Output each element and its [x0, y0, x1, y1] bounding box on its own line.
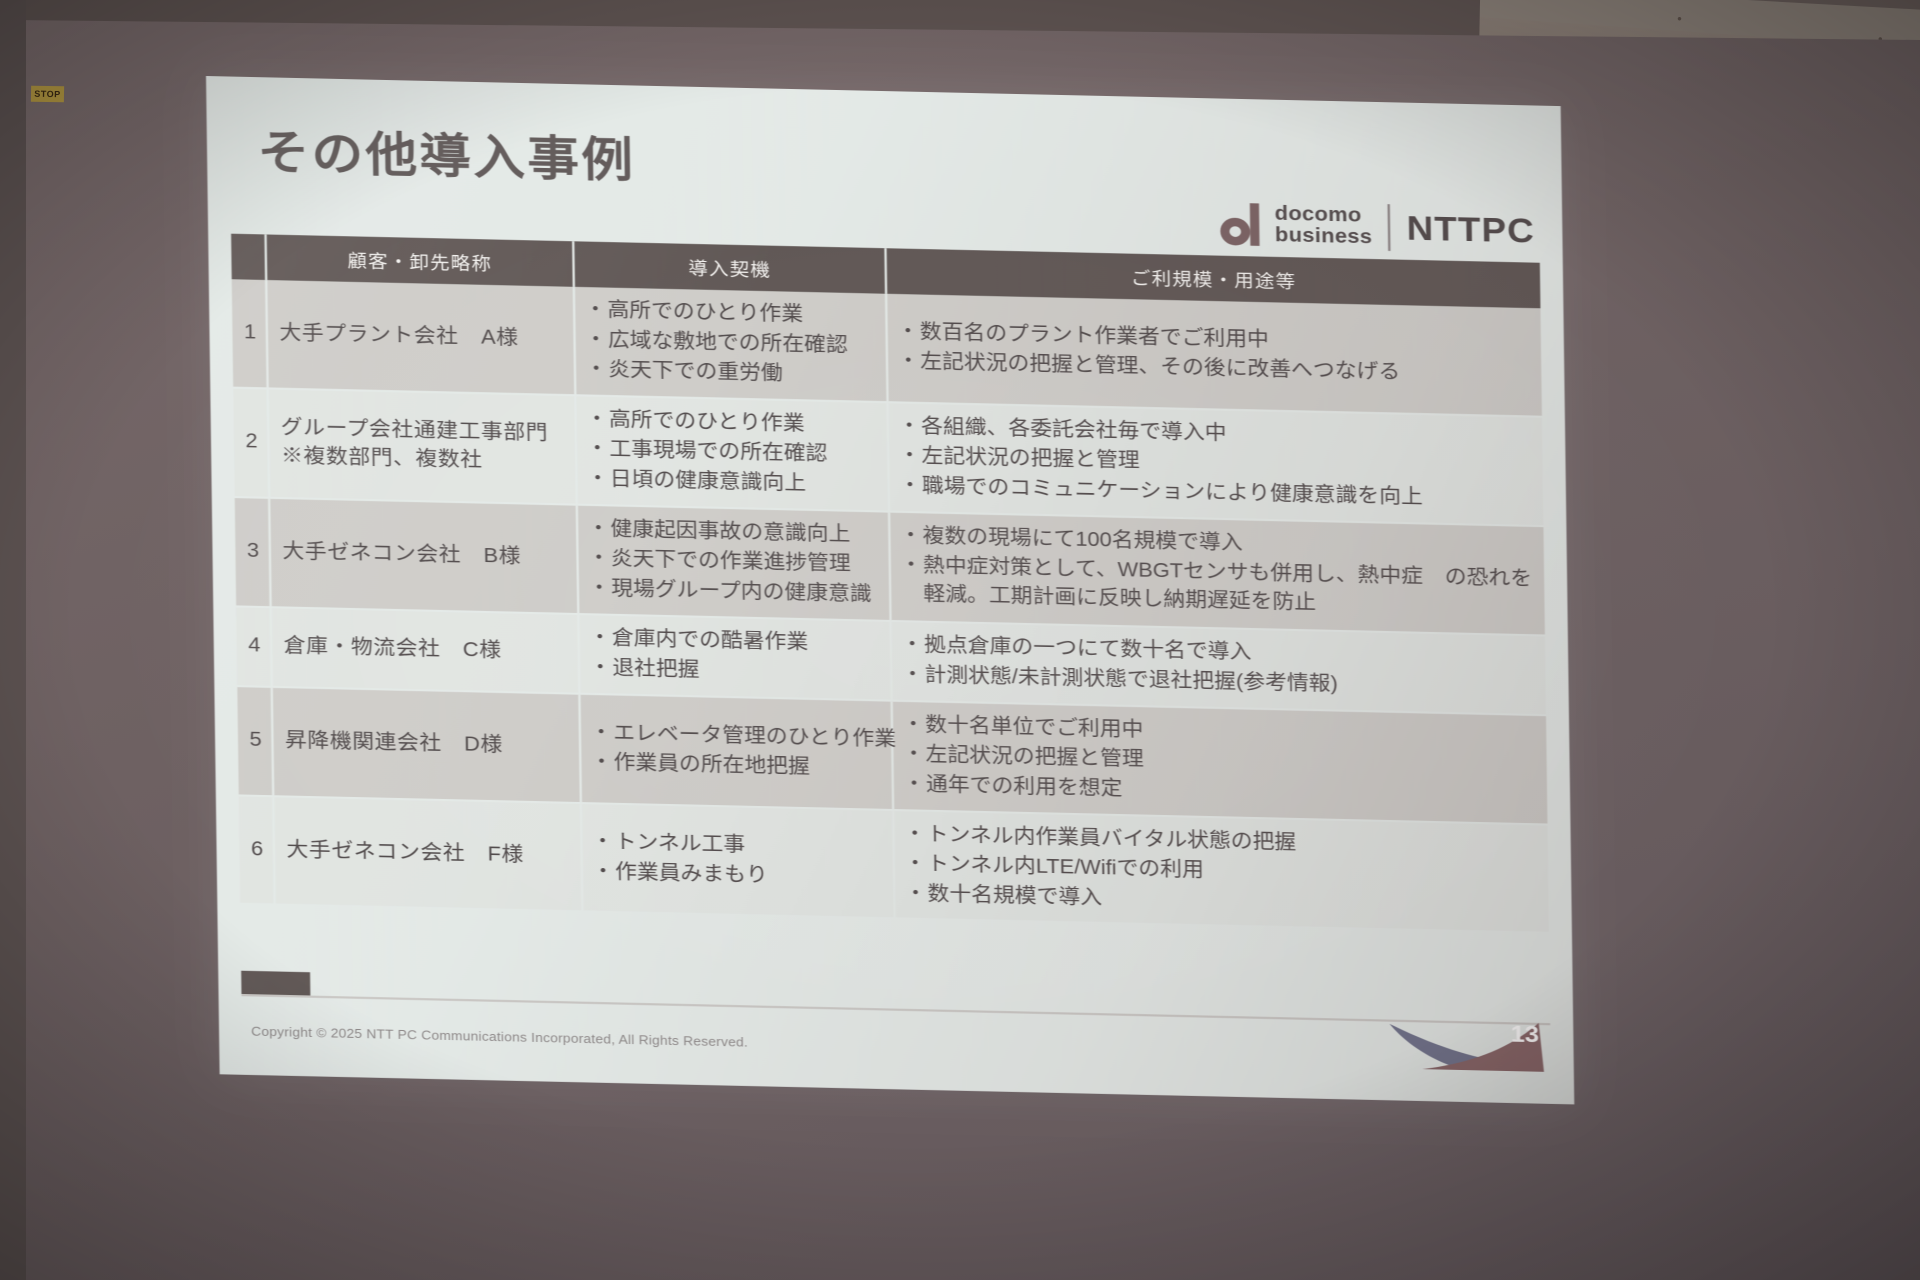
wall-left-post — [0, 0, 26, 1280]
bullet-list: 高所でのひとり作業広域な敷地での所在確認炎天下での重労働 — [587, 297, 875, 391]
cell-customer: 大手ゼネコン会社 B様 — [269, 498, 578, 614]
cell-trigger: エレベータ管理のひとり作業作業員の所在地把握 — [579, 693, 893, 809]
row-number: 1 — [232, 279, 268, 388]
footer-divider — [241, 994, 1550, 1025]
row-number: 5 — [237, 686, 273, 796]
table-body: 1大手プラント会社 A様高所でのひとり作業広域な敷地での所在確認炎天下での重労働… — [232, 279, 1549, 933]
page-number: 13 — [1511, 1020, 1539, 1048]
bullet-list: 拠点倉庫の一つにて数十名で導入計測状態/未計測状態で退社把握(参考情報) — [903, 632, 1534, 704]
cell-scale: トンネル内作業員バイタル状態の把握トンネル内LTE/Wifiでの利用数十名規模で… — [893, 810, 1549, 934]
cell-trigger: 高所でのひとり作業工事現場での所在確認日頃の健康意識向上 — [575, 395, 889, 511]
cell-trigger: トンネル工事作業員みまもり — [581, 803, 895, 919]
cell-customer: 昇降機関連会社 D様 — [272, 686, 581, 802]
projected-slide-wrapper: その他導入事例 docomo business NTTPC — [206, 76, 1574, 1104]
bullet-list: 高所でのひとり作業工事現場での所在確認日頃の健康意識向上 — [588, 406, 876, 500]
cell-scale: 数百名のプラント作業者でご利用中左記状況の把握と管理、その後に改善へつなげる — [886, 294, 1542, 417]
cell-scale: 複数の現場にて100名規模で導入熱中症対策として、WBGTセンサも併用し、熱中症… — [889, 511, 1545, 635]
docomo-d-mark-icon — [1219, 203, 1259, 246]
cell-scale: 数十名単位でご利用中左記状況の把握と管理通年での利用を想定 — [892, 700, 1548, 824]
bullet-list: エレベータ管理のひとり作業作業員の所在地把握 — [592, 719, 880, 784]
bullet-list: 数十名単位でご利用中左記状況の把握と管理通年での利用を想定 — [904, 711, 1535, 813]
bullet-item: 作業員みまもり — [594, 858, 881, 893]
bullet-item: 退社把握 — [591, 654, 878, 689]
bullet-item: 炎天下での重労働 — [587, 356, 874, 391]
cell-scale: 各組織、各委託会社毎で導入中左記状況の把握と管理職場でのコミュニケーションにより… — [888, 402, 1544, 526]
cell-scale: 拠点倉庫の一つにて数十名で導入計測状態/未計測状態で退社把握(参考情報) — [891, 621, 1546, 715]
bullet-list: 数百名のプラント作業者でご利用中左記状況の把握と管理、その後に改善へつなげる — [899, 319, 1530, 391]
footer-accent-tab — [241, 971, 310, 996]
bullet-item: 作業員の所在地把握 — [593, 749, 880, 784]
bullet-list: 倉庫内での酷暑作業退社把握 — [591, 625, 879, 690]
column-header-number — [231, 234, 266, 280]
column-header-customer: 顧客・卸先略称 — [266, 234, 574, 286]
bullet-list: トンネル工事作業員みまもり — [594, 828, 882, 893]
page-title: その他導入事例 — [257, 113, 636, 190]
copyright-text: Copyright © 2025 NTT PC Communications I… — [251, 1024, 748, 1050]
cell-customer: 倉庫・物流会社 C様 — [271, 607, 580, 693]
cell-trigger: 倉庫内での酷暑作業退社把握 — [578, 614, 891, 701]
d-mark-bowl — [1220, 217, 1250, 245]
bullet-list: 健康起因事故の意識向上炎天下での作業進捗管理現場グループ内の健康意識 — [590, 515, 878, 609]
logo-divider — [1388, 204, 1391, 251]
bullet-list: 各組織、各委託会社毎で導入中左記状況の把握と管理職場でのコミュニケーションにより… — [900, 413, 1531, 515]
stop-sticker: STOP — [31, 86, 64, 103]
cell-customer: 大手ゼネコン会社 F様 — [273, 796, 582, 912]
cell-customer: グループ会社通建工事部門※複数部門、複数社 — [268, 388, 577, 504]
d-mark-stem — [1249, 203, 1259, 246]
docomo-wordmark: docomo business — [1275, 204, 1373, 249]
presentation-slide: その他導入事例 docomo business NTTPC — [206, 76, 1574, 1104]
bullet-list: トンネル内作業員バイタル状態の把握トンネル内LTE/Wifiでの利用数十名規模で… — [906, 820, 1537, 922]
row-number: 3 — [235, 497, 271, 607]
row-number: 4 — [236, 606, 272, 686]
cell-customer-note: ※複数部門、複数社 — [281, 443, 564, 478]
bullet-item: 現場グループ内の健康意識 — [590, 575, 877, 610]
page-number-badge: 13 — [1387, 1015, 1549, 1076]
docomo-line-2: business — [1275, 225, 1373, 248]
cell-trigger: 健康起因事故の意識向上炎天下での作業進捗管理現場グループ内の健康意識 — [577, 504, 891, 620]
case-study-table: 顧客・卸先略称 導入契機 ご利規模・用途等 1大手プラント会社 A様高所でのひと… — [231, 234, 1549, 935]
cell-trigger: 高所でのひとり作業広域な敷地での所在確認炎天下での重労働 — [574, 287, 888, 402]
room-scene: STOP その他導入事例 docomo business NTTPC — [0, 0, 1920, 1280]
cell-customer: 大手プラント会社 A様 — [266, 280, 575, 395]
bullet-list: 複数の現場にて100名規模で導入熱中症対策として、WBGTセンサも併用し、熱中症… — [902, 523, 1533, 624]
bullet-item: 日頃の健康意識向上 — [589, 465, 876, 500]
column-header-trigger: 導入契機 — [573, 241, 886, 294]
row-number: 2 — [233, 388, 269, 498]
brand-logo: docomo business NTTPC — [1219, 200, 1535, 254]
nttpc-wordmark: NTTPC — [1406, 208, 1535, 250]
row-number: 6 — [239, 795, 275, 905]
